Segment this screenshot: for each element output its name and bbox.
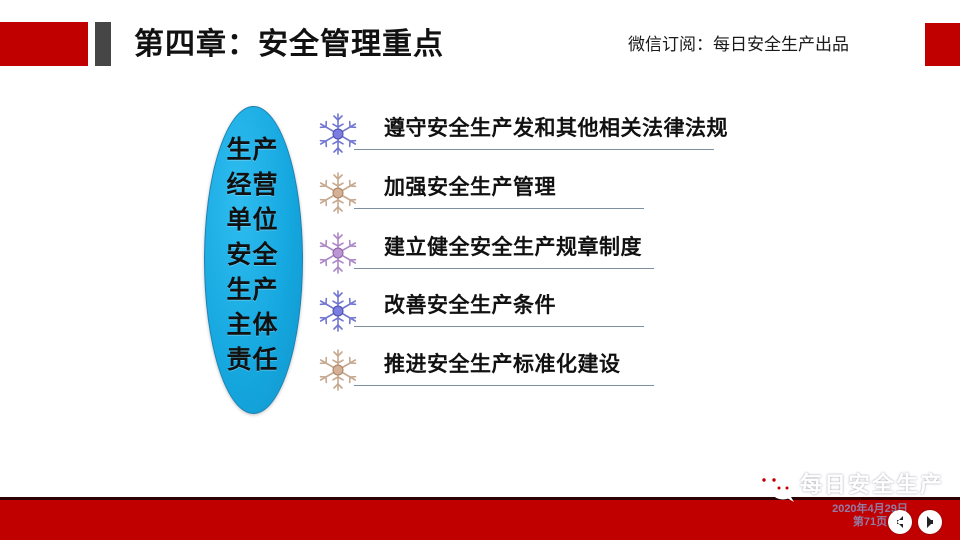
- responsibility-list: 遵守安全生产发和其他相关法律法规 加强安全生产管理: [312, 106, 912, 416]
- center-ellipse-label: 生产 经营 单位 安全 生产 主体 责任: [204, 133, 301, 378]
- ellipse-line: 经营: [204, 168, 301, 203]
- list-item-label: 加强安全生产管理: [384, 173, 556, 203]
- header-credit: 微信订阅：每日安全生产出品: [628, 33, 849, 57]
- next-slide-button[interactable]: [918, 510, 942, 534]
- list-item-label: 改善安全生产条件: [384, 291, 556, 321]
- wechat-logo-icon: [754, 470, 796, 502]
- ellipse-line: 责任: [204, 343, 301, 378]
- header-red-block-right: [925, 23, 960, 66]
- snowflake-icon: [314, 346, 362, 394]
- page-number: 第71页: [810, 515, 930, 529]
- watermark-text: 每日安全生产: [800, 470, 944, 500]
- ellipse-line: 生产: [204, 133, 301, 168]
- page-title: 第四章：安全管理重点: [134, 24, 444, 66]
- list-item: 改善安全生产条件: [312, 283, 912, 343]
- snowflake-icon: [314, 110, 362, 158]
- list-item-rule: [354, 268, 654, 269]
- list-item-rule: [354, 149, 714, 150]
- header-red-block-left: [0, 22, 88, 66]
- watermark-date: 2020年4月29日: [810, 502, 930, 516]
- list-item-rule: [354, 385, 654, 386]
- list-item: 建立健全安全生产规章制度: [312, 225, 912, 285]
- snowflake-icon: [314, 169, 362, 217]
- ellipse-line: 安全: [204, 238, 301, 273]
- list-item-label: 建立健全安全生产规章制度: [384, 233, 642, 263]
- list-item: 推进安全生产标准化建设: [312, 342, 912, 402]
- header-gray-block: [95, 22, 111, 66]
- list-item-label: 遵守安全生产发和其他相关法律法规: [384, 114, 728, 144]
- ellipse-line: 主体: [204, 308, 301, 343]
- slide-canvas: 第四章：安全管理重点 微信订阅：每日安全生产出品 生产 经营 单位 安全 生产 …: [0, 0, 960, 540]
- list-item-rule: [354, 208, 644, 209]
- list-item-label: 推进安全生产标准化建设: [384, 350, 621, 380]
- ellipse-line: 生产: [204, 273, 301, 308]
- snowflake-icon: [314, 229, 362, 277]
- list-item: 加强安全生产管理: [312, 165, 912, 225]
- ellipse-line: 单位: [204, 203, 301, 238]
- prev-slide-button[interactable]: [888, 510, 912, 534]
- list-item-rule: [354, 326, 644, 327]
- snowflake-icon: [314, 287, 362, 335]
- list-item: 遵守安全生产发和其他相关法律法规: [312, 106, 912, 166]
